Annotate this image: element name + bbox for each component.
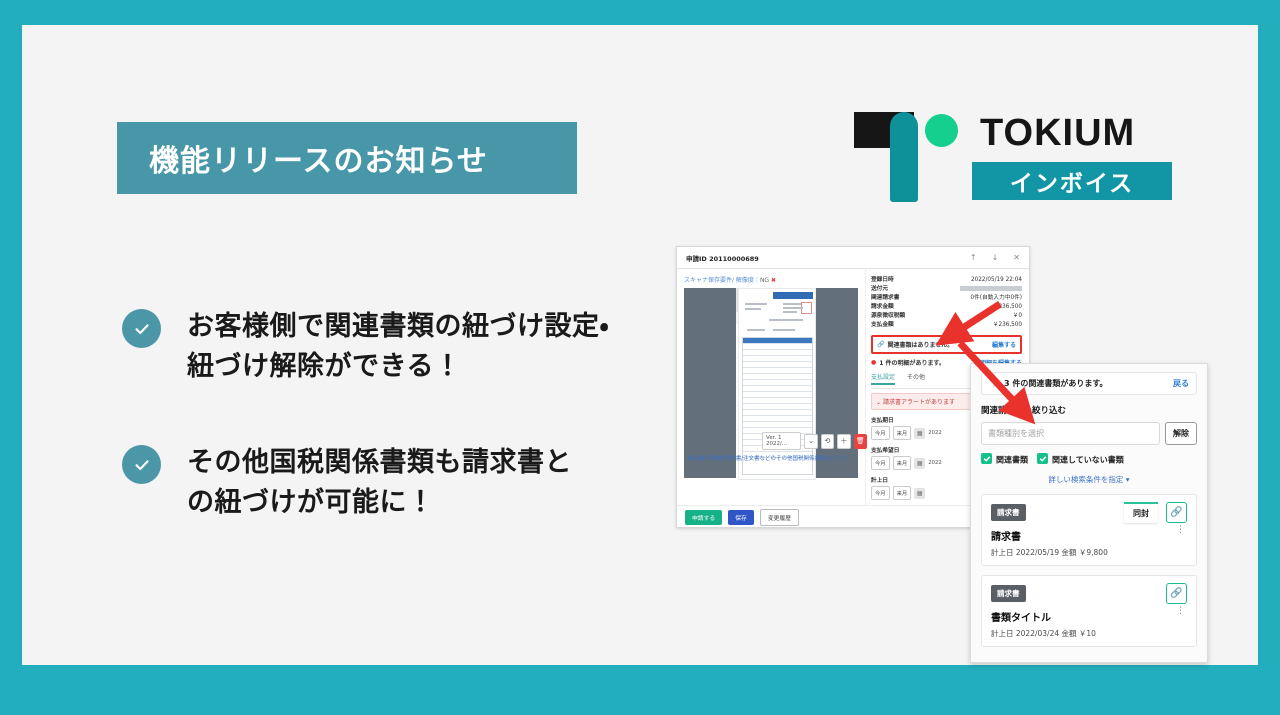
slide-page: 機能リリースのお知らせ TOKIUM インボイス お客様側で関連書類の紐づけ設定… — [22, 25, 1258, 665]
popup-heading: 関連請求書を絞り込む — [981, 404, 1197, 416]
save-button[interactable]: 保存 — [728, 510, 754, 525]
calendar-icon[interactable]: ▦ — [914, 428, 925, 439]
field-value: ￥236,500 — [993, 321, 1022, 330]
document-type-input[interactable]: 書類種別を選択 — [981, 422, 1160, 445]
checkbox-related-documents-label: 関連書類 — [996, 456, 1028, 465]
brand-logo: TOKIUM インボイス — [850, 110, 1180, 202]
logo-teal-stem — [890, 112, 918, 202]
add-icon[interactable]: ＋ — [837, 434, 850, 449]
feature-bullet-2: その他国税関係書類も請求書と の紐づけが可能に！ — [122, 443, 572, 523]
popup-search-row: 書類種別を選択 解除 — [981, 422, 1197, 445]
history-button[interactable]: 変更履歴 — [760, 509, 799, 526]
title-banner: 機能リリースのお知らせ — [117, 122, 577, 194]
feature-bullet-2-text: その他国税関係書類も請求書と の紐づけが可能に！ — [187, 443, 572, 523]
detail-lines-text: 1 件の明細があります。 — [879, 358, 945, 367]
check-circle-icon — [122, 445, 161, 484]
slide-frame: 機能リリースのお知らせ TOKIUM インボイス お客様側で関連書類の紐づけ設定… — [0, 0, 1280, 690]
invoice-page-image — [738, 288, 816, 480]
document-card-top: 請求書 同封 🔗 — [991, 502, 1187, 523]
field-value: ￥0 — [1013, 312, 1022, 321]
field-label: 源泉徴収税額 — [871, 312, 905, 321]
arrow-up-icon[interactable]: ↑ — [970, 253, 977, 262]
checkbox-checked-icon — [1037, 453, 1048, 464]
related-documents-text: 関連書類はありません。 — [887, 340, 953, 349]
date-field-value[interactable]: 2022 — [928, 430, 941, 436]
page-title: 機能リリースのお知らせ — [149, 136, 488, 180]
related-documents-row[interactable]: 🔗 関連書類はありません。 編集する — [871, 335, 1022, 354]
document-card-top: 請求書 🔗 — [991, 583, 1187, 604]
next-month-button[interactable]: 来月 — [893, 486, 912, 500]
invoice-alert-text: 請求書アラートがあります — [883, 399, 955, 406]
brand-product-label: インボイス — [972, 162, 1172, 200]
field-value: 0件(自動入力中0件) — [971, 294, 1023, 303]
invoice-image-preview[interactable]: 1 2 3 4 5 6 7 8 9 10 Ver. 1 20 — [684, 288, 860, 478]
field-label: 請求金額 — [871, 303, 894, 312]
preview-side-pane-left — [684, 288, 736, 478]
scan-status-value: NG — [760, 277, 769, 284]
arrow-down-icon[interactable]: ↓ — [992, 253, 999, 262]
document-type-badge: 請求書 — [991, 504, 1026, 521]
delete-icon[interactable]: 🗑 — [854, 434, 867, 449]
this-month-button[interactable]: 今月 — [871, 426, 890, 440]
date-field-value[interactable]: 2022 — [928, 460, 941, 466]
checkbox-related-documents[interactable]: 関連書類 — [981, 453, 1028, 466]
field-row: 送付元 — [871, 285, 1022, 294]
document-card-meta: 計上日 2022/05/19 金額 ￥9,800 — [991, 547, 1187, 558]
other-documents-link[interactable]: 納品書/見積書/契約書/注文書などのその他国税関係書類はこちら — [688, 454, 848, 462]
document-card-title: 書類タイトル — [991, 609, 1187, 624]
this-month-button[interactable]: 今月 — [871, 486, 890, 500]
field-row: 請求金額 ￥236,500 — [871, 303, 1022, 312]
field-value: ￥236,500 — [993, 303, 1022, 312]
pin-icon: 📍 — [989, 379, 999, 388]
more-options-icon[interactable]: ⋮ — [1176, 528, 1185, 532]
field-row: 源泉徴収税額 ￥0 — [871, 312, 1022, 321]
back-button[interactable]: 戻る — [1173, 378, 1189, 389]
version-select[interactable]: Ver. 1 2022/... — [762, 432, 801, 450]
chevron-down-icon: ⌄ — [876, 399, 883, 406]
alert-dot-icon: ● — [871, 359, 876, 366]
checkbox-checked-icon — [981, 453, 992, 464]
calendar-icon[interactable]: ▦ — [914, 458, 925, 469]
document-preview-pane: スキャナ保存要件/ 解像度：NG ✖ — [677, 269, 865, 505]
advanced-search-link[interactable]: 詳しい検索条件を指定 ▾ — [981, 474, 1197, 485]
this-month-button[interactable]: 今月 — [871, 456, 890, 470]
link-document-icon[interactable]: 🔗 — [1166, 502, 1187, 523]
checkbox-unrelated-documents-label: 関連していない書類 — [1052, 456, 1124, 465]
scan-fail-icon: ✖ — [771, 277, 776, 284]
related-documents-popup: 📍 3 件の関連書類があります。 戻る 関連請求書を絞り込む 書類種別を選択 解… — [970, 363, 1208, 663]
submit-button[interactable]: 申請する — [685, 510, 722, 525]
close-icon[interactable]: ✕ — [1013, 253, 1020, 262]
clear-filter-button[interactable]: 解除 — [1165, 422, 1197, 445]
tab-payment-settings[interactable]: 支払設定 — [871, 372, 895, 385]
tab-other[interactable]: その他 — [907, 372, 925, 385]
brand-wordmark: TOKIUM — [980, 112, 1135, 155]
version-toolbar: Ver. 1 2022/... ⌄ ⟲ ＋ 🗑 — [762, 432, 867, 450]
popup-filter-checkboxes: 関連書類 関連していない書類 — [981, 453, 1197, 466]
checkbox-unrelated-documents[interactable]: 関連していない書類 — [1037, 453, 1124, 466]
field-row: 登録日時 2022/05/19 22:04 — [871, 276, 1022, 285]
field-value-redacted — [960, 285, 1022, 294]
feature-bullet-1: お客様側で関連書類の紐づけ設定・ 紐づけ解除ができる！ — [122, 307, 609, 387]
scan-note-label: スキャナ保存要件/ 解像度： — [684, 277, 760, 284]
document-card[interactable]: 請求書 🔗 書類タイトル 計上日 2022/03/24 金額 ￥10 ⋮ — [981, 575, 1197, 647]
window-header-icons: ↑ ↓ ✕ — [970, 253, 1020, 262]
field-row: 関連請求書 0件(自動入力中0件) — [871, 294, 1022, 303]
request-id-label: 申請ID 20110000689 — [686, 253, 759, 263]
paperclip-icon: 🔗 — [877, 341, 884, 348]
check-circle-icon — [122, 309, 161, 348]
field-label: 登録日時 — [871, 276, 894, 285]
document-type-badge: 請求書 — [991, 585, 1026, 602]
more-options-icon[interactable]: ⋮ — [1176, 609, 1185, 613]
scan-requirement-note: スキャナ保存要件/ 解像度：NG ✖ — [684, 275, 860, 284]
popup-banner-text: 3 件の関連書類があります。 — [1004, 378, 1108, 389]
calendar-icon[interactable]: ▦ — [914, 488, 925, 499]
document-card-title: 請求書 — [991, 528, 1187, 543]
field-value: 2022/05/19 22:04 — [971, 276, 1022, 285]
tokium-mark-icon — [850, 110, 970, 202]
feature-bullet-1-text: お客様側で関連書類の紐づけ設定・ 紐づけ解除ができる！ — [187, 307, 609, 387]
chevron-down-icon[interactable]: ⌄ — [804, 434, 817, 449]
rotate-icon[interactable]: ⟲ — [821, 434, 834, 449]
link-document-icon[interactable]: 🔗 — [1166, 583, 1187, 604]
next-month-button[interactable]: 来月 — [893, 426, 912, 440]
field-label: 支払金額 — [871, 321, 894, 330]
enclosed-tag: 同封 — [1124, 502, 1158, 523]
field-label: 送付元 — [871, 285, 888, 294]
document-card[interactable]: 請求書 同封 🔗 請求書 計上日 2022/05/19 金額 ￥9,800 ⋮ — [981, 494, 1197, 566]
field-row: 支払金額 ￥236,500 — [871, 321, 1022, 330]
related-documents-edit-button[interactable]: 編集する — [992, 340, 1016, 349]
logo-green-dot — [925, 114, 958, 147]
next-month-button[interactable]: 来月 — [893, 456, 912, 470]
popup-banner: 📍 3 件の関連書類があります。 戻る — [981, 372, 1197, 395]
window-header: 申請ID 20110000689 ↑ ↓ ✕ — [677, 247, 1029, 269]
field-label: 関連請求書 — [871, 294, 899, 303]
document-card-meta: 計上日 2022/03/24 金額 ￥10 — [991, 628, 1187, 639]
invoice-header-band — [773, 292, 813, 299]
